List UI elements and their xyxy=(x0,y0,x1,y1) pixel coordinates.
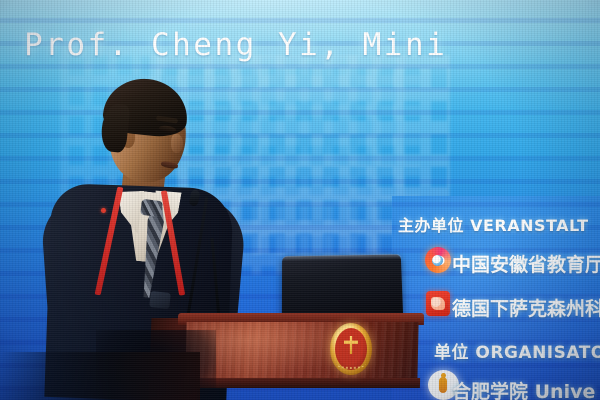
photograph-scene: Prof. Cheng Yi, Mini 主办单位 VERANSTALT 中国安… xyxy=(0,0,600,400)
photo-vignette xyxy=(0,0,600,400)
